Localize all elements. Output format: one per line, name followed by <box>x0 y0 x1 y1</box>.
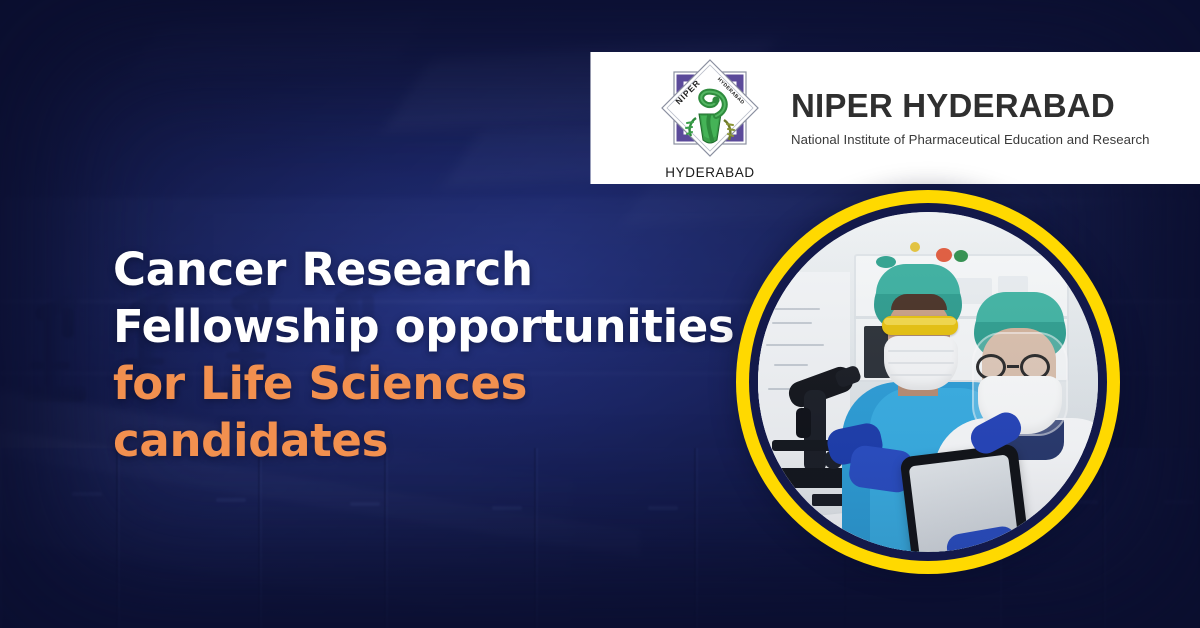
poster-canvas: NIPER HYDERABAD HYDERABAD N <box>0 0 1200 628</box>
lab-researchers-photo <box>758 212 1098 552</box>
niper-hyderabad-emblem-icon: NIPER HYDERABAD <box>660 58 760 158</box>
headline-line-2: Fellowship opportunities <box>113 298 753 355</box>
logo-text-block: NIPER HYDERABAD National Institute of Ph… <box>791 89 1149 148</box>
photo-ring <box>736 190 1120 574</box>
headline-line-4: candidates <box>113 412 753 469</box>
logo-panel: NIPER HYDERABAD HYDERABAD N <box>591 52 1200 184</box>
headline-block: Cancer Research Fellowship opportunities… <box>113 241 753 470</box>
headline-line-3: for Life Sciences <box>113 355 753 412</box>
logo-title: NIPER HYDERABAD <box>791 89 1149 124</box>
logo-subtitle: National Institute of Pharmaceutical Edu… <box>791 132 1149 147</box>
logo-mark: NIPER HYDERABAD HYDERABAD <box>651 56 769 180</box>
photo-shading <box>758 212 1098 552</box>
emblem-caption: HYDERABAD <box>651 165 769 180</box>
headline-line-1: Cancer Research <box>113 241 753 298</box>
photo-ring-inner <box>749 203 1107 561</box>
